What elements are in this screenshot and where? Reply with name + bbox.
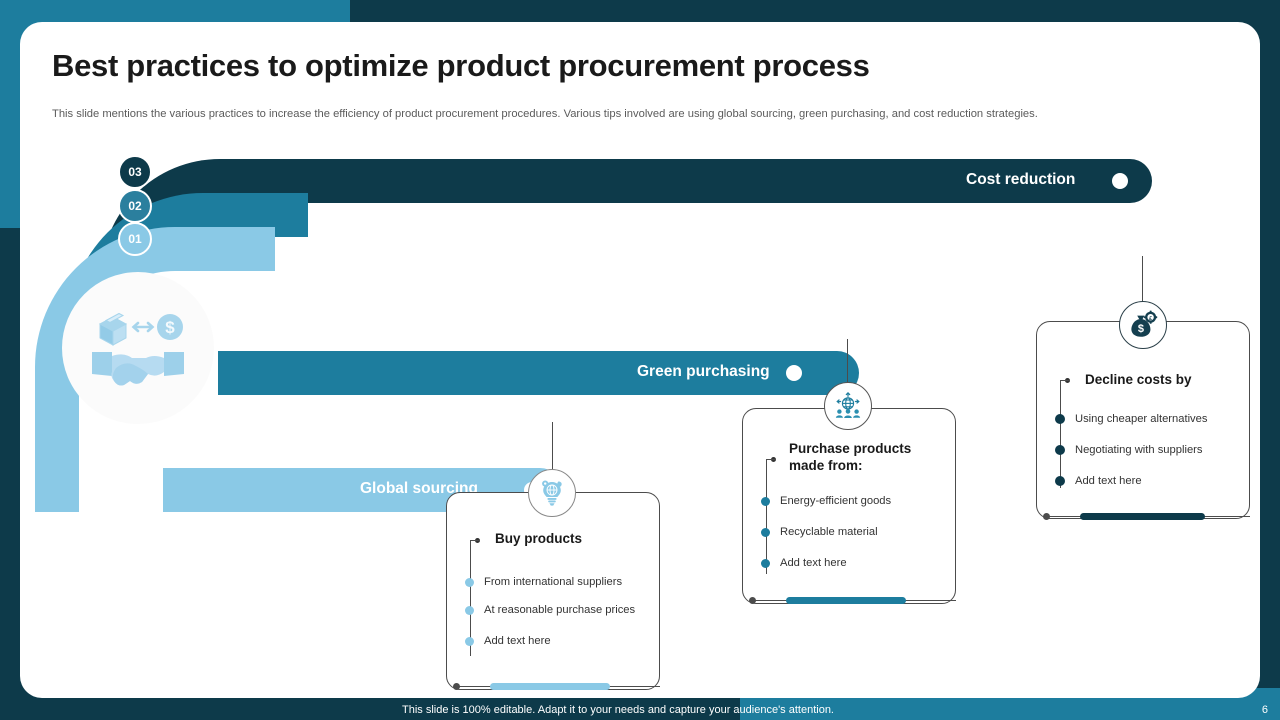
bullet-label: Negotiating with suppliers [1075, 444, 1202, 456]
list-item[interactable]: Using cheaper alternatives [1055, 412, 1207, 426]
money-bag-gear-icon: $ £ [1119, 301, 1167, 349]
lightbulb-globe-gear-icon [528, 469, 576, 517]
bullet-dot-icon [465, 606, 474, 615]
bullet-list-cost: Using cheaper alternatives Negotiating w… [1055, 412, 1207, 502]
svg-text:$: $ [1138, 323, 1144, 335]
bullet-dot-icon [761, 528, 770, 537]
card-progress-bar-green [786, 597, 906, 604]
slide-card: Best practices to optimize product procu… [20, 22, 1260, 698]
step-badge-02[interactable]: 02 [118, 189, 152, 223]
bullet-dot-icon [761, 559, 770, 568]
step-badge-02-label: 02 [128, 199, 141, 213]
card-spine-top-cost [1060, 380, 1070, 381]
step-badge-03-label: 03 [128, 165, 141, 179]
card-progress-bar-cost [1080, 513, 1205, 520]
card-spine-top-global [470, 540, 480, 541]
bullet-dot-icon [1055, 445, 1065, 455]
arc-endpoint-dot-cost[interactable] [1112, 173, 1128, 189]
bullet-label: Using cheaper alternatives [1075, 413, 1207, 425]
step-badge-01[interactable]: 01 [118, 222, 152, 256]
card-footdot-global [453, 683, 460, 690]
card-footdot-green [749, 597, 756, 604]
step-badge-01-label: 01 [128, 232, 141, 246]
bullet-label: Energy-efficient goods [780, 495, 891, 507]
bullet-label: Add text here [484, 635, 551, 647]
bullet-dot-icon [1055, 476, 1065, 486]
connector-cost-vertical [1142, 256, 1143, 302]
bullet-list-green: Energy-efficient goods Recyclable materi… [761, 494, 891, 584]
bullet-dot-icon [1055, 414, 1065, 424]
bullet-list-global: From international suppliers At reasonab… [465, 575, 635, 662]
page-subtitle: This slide mentions the various practice… [52, 107, 1152, 123]
arc-label-green-purchasing: Green purchasing [637, 363, 770, 381]
step-badge-03[interactable]: 03 [118, 155, 152, 189]
bullet-dot-icon [465, 578, 474, 587]
card-progress-bar-global [490, 683, 610, 690]
card-footdot-cost [1043, 513, 1050, 520]
bullet-dot-icon [761, 497, 770, 506]
detail-card-green-purchasing[interactable]: Purchase products made from: Energy-effi… [742, 408, 956, 604]
bullet-label: From international suppliers [484, 576, 622, 588]
connector-global-vertical [552, 422, 553, 470]
card-spine-top-green [766, 459, 776, 460]
card-heading-decline-costs: Decline costs by [1085, 372, 1192, 389]
list-item[interactable]: From international suppliers [465, 575, 635, 589]
bullet-label: Add text here [1075, 475, 1142, 487]
list-item[interactable]: Energy-efficient goods [761, 494, 891, 508]
bullet-label: Recyclable material [780, 526, 878, 538]
detail-card-cost-reduction[interactable]: Decline costs by Using cheaper alternati… [1036, 321, 1250, 519]
arc-endpoint-dot-green[interactable] [786, 365, 802, 381]
list-item[interactable]: Add text here [761, 556, 891, 570]
svg-text:£: £ [1149, 316, 1152, 322]
bullet-dot-icon [465, 637, 474, 646]
procurement-handshake-icon: $ [62, 272, 214, 424]
svg-text:$: $ [165, 318, 175, 337]
list-item[interactable]: Add text here [1055, 474, 1207, 488]
globe-people-icon [824, 382, 872, 430]
footer-strip [0, 698, 1280, 720]
list-item[interactable]: At reasonable purchase prices [465, 603, 635, 617]
arc-label-cost-reduction: Cost reduction [966, 171, 1075, 189]
card-heading-purchase-products: Purchase products made from: [789, 441, 949, 475]
list-item[interactable]: Add text here [465, 634, 635, 648]
bullet-label: Add text here [780, 557, 847, 569]
bullet-label: At reasonable purchase prices [484, 604, 635, 616]
connector-green-vertical [847, 339, 848, 383]
page-title: Best practices to optimize product procu… [52, 48, 870, 84]
list-item[interactable]: Negotiating with suppliers [1055, 443, 1207, 457]
list-item[interactable]: Recyclable material [761, 525, 891, 539]
detail-card-global-sourcing[interactable]: Buy products From international supplier… [446, 492, 660, 690]
card-heading-buy-products: Buy products [495, 531, 582, 548]
